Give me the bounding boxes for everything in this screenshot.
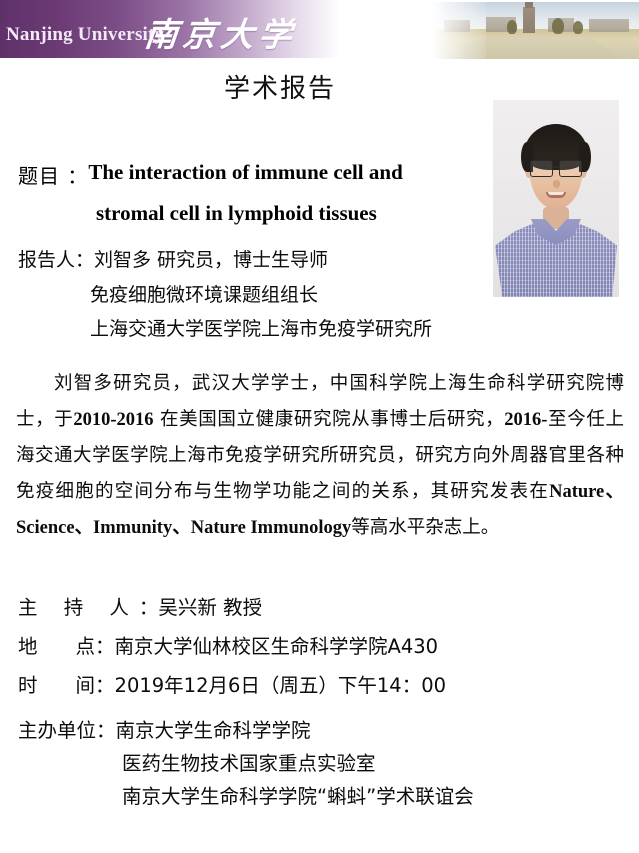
bio-years-2: 2016- <box>504 410 547 430</box>
speaker-name-line: 报告人：刘智多 研究员，博士生导师 <box>18 243 488 278</box>
topic-label: 题目 ： <box>18 164 88 188</box>
portrait-mouth <box>546 192 566 198</box>
topic-title-line1: The interaction of immune cell and <box>88 160 402 184</box>
bio-part-2: 在美国国立健康研究院从事博士后研究， <box>154 409 505 430</box>
host-separator: ： <box>139 596 159 619</box>
detail-row-location: 地点：南京大学仙林校区生命科学学院A430 <box>18 627 618 666</box>
organizer-line-2: 医药生物技术国家重点实验室 <box>18 748 618 781</box>
detail-row-time: 时间：2019年12月6日（周五）下午14：00 <box>18 666 618 705</box>
bio-part-4: 等高水平杂志上。 <box>351 517 499 538</box>
time-label: 时 <box>18 674 76 697</box>
bio-years-1: 2010-2016 <box>73 410 153 430</box>
seminar-poster: Nanjing University 南京大学 学术报告 题目 ：The int… <box>0 0 639 853</box>
topic-title-line2: stromal cell in lymphoid tissues <box>96 197 488 230</box>
organizers-label: 主办单位： <box>18 719 116 742</box>
speaker-section: 报告人：刘智多 研究员，博士生导师 免疫细胞微环境课题组组长 上海交通大学医学院… <box>18 243 488 347</box>
photo-tree-left <box>507 20 517 34</box>
speaker-biography: 刘智多研究员，武汉大学学士，中国科学院上海生命科学研究院博士，于2010-201… <box>16 366 624 546</box>
event-details: 主 持 人：吴兴新 教授 地点：南京大学仙林校区生命科学学院A430 时间：20… <box>18 588 618 705</box>
university-name-english: Nanjing University <box>6 24 164 46</box>
organizers-section: 主办单位：南京大学生命科学学院 医药生物技术国家重点实验室 南京大学生命科学学院… <box>18 715 618 813</box>
university-name-chinese-calligraphy: 南京大学 <box>142 8 299 56</box>
photo-tree-right <box>573 21 583 34</box>
portrait-nose <box>553 180 560 188</box>
photo-left-fade <box>432 2 486 59</box>
page-title: 学术报告 <box>0 68 560 105</box>
speaker-group-line: 免疫细胞微环境课题组组长 <box>18 278 488 313</box>
organizer-row-1: 主办单位：南京大学生命科学学院 <box>18 715 618 748</box>
speaker-portrait-photo <box>493 100 619 297</box>
speaker-affiliation-line: 上海交通大学医学院上海市免疫学研究所 <box>18 312 488 347</box>
host-label: 主 持 人 <box>18 596 139 619</box>
time-separator: 间： <box>76 674 115 697</box>
detail-row-host: 主 持 人：吴兴新 教授 <box>18 588 618 627</box>
organizer-line-3: 南京大学生命科学学院“蝌蚪”学术联谊会 <box>18 781 618 814</box>
location-value: 南京大学仙林校区生命科学学院A430 <box>115 635 439 658</box>
poster-header: Nanjing University 南京大学 <box>0 0 639 62</box>
photo-building-right <box>589 19 629 32</box>
portrait-glasses-bridge <box>552 166 560 168</box>
organizer-line-1: 南京大学生命科学学院 <box>116 719 311 742</box>
photo-tree-center <box>552 18 564 34</box>
portrait-glasses <box>529 160 583 176</box>
host-value: 吴兴新 教授 <box>158 596 262 619</box>
location-label: 地 <box>18 635 76 658</box>
photo-clock-tower <box>523 7 535 33</box>
portrait-lens-right <box>559 160 582 177</box>
portrait-lens-left <box>530 160 553 177</box>
time-value: 2019年12月6日（周五）下午14：00 <box>115 674 446 697</box>
campus-panorama-photo <box>432 2 639 59</box>
location-separator: 点： <box>76 635 115 658</box>
topic-section: 题目 ：The interaction of immune cell and s… <box>18 160 488 230</box>
